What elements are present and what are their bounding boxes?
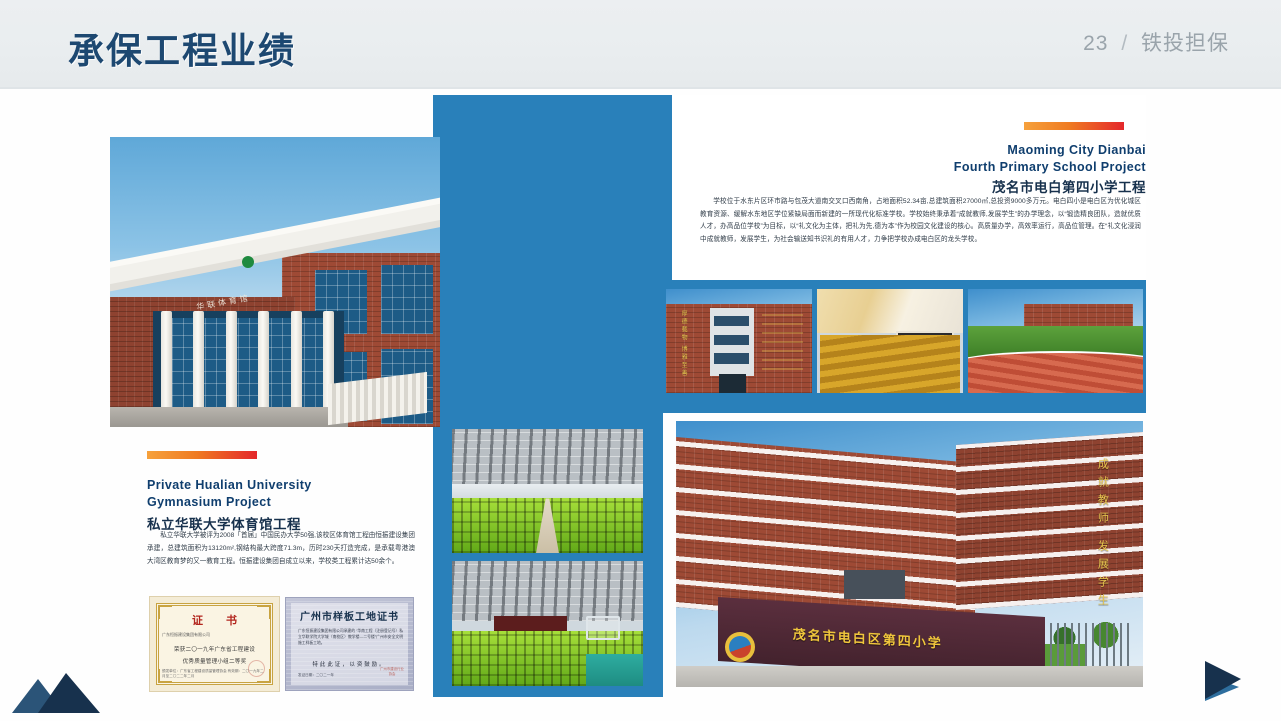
certificate-seal-icon xyxy=(248,660,265,677)
project-title-en-line2: Gymnasium Project xyxy=(147,494,447,511)
header-separator: / xyxy=(1121,32,1128,55)
photo-school-auditorium xyxy=(817,289,963,393)
project-heading-maoming: Maoming City Dianbai Fourth Primary Scho… xyxy=(726,142,1146,196)
slide-canvas: 承保工程业绩 23 / 铁投担保 华联体育馆 xyxy=(0,0,1281,721)
entrance-steps xyxy=(110,407,348,427)
accent-bar-right xyxy=(1024,122,1124,130)
floor-balconies-right xyxy=(956,432,1143,610)
header-meta: 23 / 铁投担保 xyxy=(1083,27,1229,57)
entrance-glazing xyxy=(161,318,333,420)
ceiling-trusses xyxy=(452,429,643,489)
facade-calligraphy-right xyxy=(762,308,803,370)
building-logo-icon xyxy=(242,256,254,268)
project-body-text: 私立华联大学被评为2008「首届」中国民办大学50强,该校区体育馆工程由恒振建设… xyxy=(147,530,415,569)
photo-gymnasium-interior-court xyxy=(452,561,643,686)
window-row-3 xyxy=(714,353,749,363)
mountains-icon xyxy=(8,663,104,715)
facade-calligraphy-left: 厚德载物 博雅至善 xyxy=(679,310,688,378)
ceiling-trusses xyxy=(452,561,643,621)
brand-label: 铁投担保 xyxy=(1141,32,1229,55)
certificate-award-line1: 荣获二〇一九年广东省工程建设 xyxy=(154,645,275,653)
window-upper-far-right xyxy=(381,265,434,335)
auditorium-ceiling xyxy=(817,289,963,333)
school-name-text: 茂名市电白区第四小学 xyxy=(793,624,943,652)
school-wing-right xyxy=(956,432,1143,610)
accent-bar-left xyxy=(147,451,257,459)
photo-gymnasium-interior-seating xyxy=(452,429,643,553)
project-title-cn: 茂名市电白第四小学工程 xyxy=(726,176,1146,196)
slide-header: 承保工程业绩 23 / 铁投担保 xyxy=(0,0,1281,88)
project-title-en-line2: Fourth Primary School Project xyxy=(726,159,1146,176)
photo-school-main-building: 成就教师 发展学生 茂名市电白区第四小学 xyxy=(676,421,1143,687)
photo-gymnasium-exterior: 华联体育馆 xyxy=(110,137,440,427)
photo-school-track xyxy=(968,289,1143,393)
school-emblem-icon xyxy=(725,632,755,662)
entrance-doorway xyxy=(719,374,747,393)
header-divider xyxy=(0,87,1281,89)
certificate-body: 广东恒振建设集团有限公司承建的 “华南工程（注册登记号）私立华联学院大学城（南校… xyxy=(298,628,403,646)
project-heading-hualian: Private Hualian University Gymnasium Pro… xyxy=(147,477,447,533)
photo-school-facade: 厚德载物 博雅至善 xyxy=(666,289,812,393)
wall-calligraphy-text: 成就教师 发展学生 xyxy=(1094,458,1110,612)
window-row-2 xyxy=(714,335,749,345)
certificate-stamp: 广州市建设行业协会 xyxy=(380,666,404,682)
page-number: 23 xyxy=(1083,32,1108,55)
window-row-1 xyxy=(714,316,749,326)
project-body-maoming: 学校位于水东片区环市路与包茂大道南交叉口西南角，占地面积52.34亩,总建筑面积… xyxy=(700,196,1141,247)
certificate-org: 广东恒振建设集团有限公司 xyxy=(162,632,267,638)
project-title-en-line1: Private Hualian University xyxy=(147,477,447,494)
certificate-title: 证 书 xyxy=(154,612,275,628)
certificate-date: 发证日期：二〇二一年 xyxy=(298,673,334,678)
project-body-hualian: 私立华联大学被评为2008「首届」中国民办大学50强,该校区体育馆工程由恒振建设… xyxy=(147,530,415,569)
certificate-model-site: 广州市样板工地证书 广东恒振建设集团有限公司承建的 “华南工程（注册登记号）私立… xyxy=(285,597,414,691)
project-body-text: 学校位于水东片区环市路与包茂大道南交叉口西南角，占地面积52.34亩,总建筑面积… xyxy=(700,196,1141,247)
certificate-engineering-quality: 证 书 广东恒振建设集团有限公司 荣获二〇一九年广东省工程建设 优秀质量管理小组… xyxy=(150,597,279,691)
led-display-board xyxy=(844,570,905,599)
entrance-gate xyxy=(1036,623,1129,666)
basketball-court xyxy=(586,654,643,687)
next-arrow-icon[interactable] xyxy=(1199,657,1251,707)
front-plaza-pavement xyxy=(676,666,1143,687)
basketball-hoop-icon xyxy=(586,616,620,640)
page-title: 承保工程业绩 xyxy=(68,22,296,74)
project-title-en-line1: Maoming City Dianbai xyxy=(726,142,1146,159)
running-track-lanes xyxy=(968,351,1143,393)
auditorium-seat-rows xyxy=(820,335,960,393)
certificate-title: 广州市样板工地证书 xyxy=(286,608,413,623)
